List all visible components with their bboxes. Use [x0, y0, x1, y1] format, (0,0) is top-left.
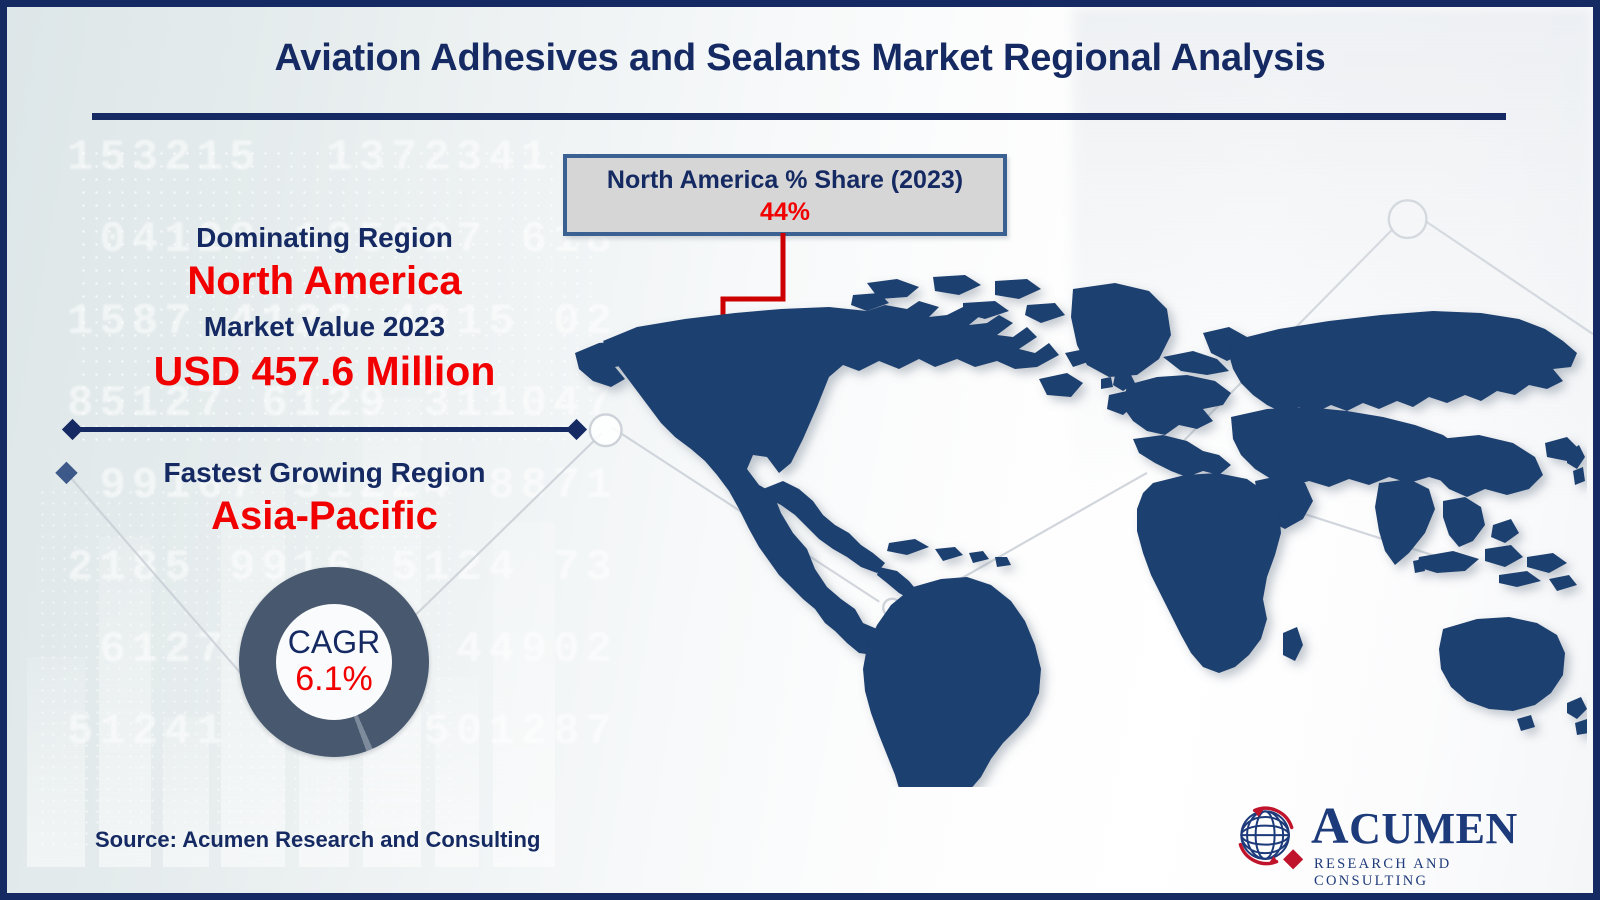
world-map-svg: [567, 257, 1587, 787]
callout-value: 44%: [567, 198, 1003, 227]
fastest-region-label: Fastest Growing Region: [62, 457, 587, 488]
logo-tagline: RESEARCH AND CONSULTING: [1314, 856, 1531, 890]
logo-name-initial: A: [1311, 798, 1349, 855]
source-attribution: Source: Acumen Research and Consulting: [95, 827, 540, 853]
left-stat-group-top: Dominating Region North America Market V…: [62, 222, 587, 394]
dominating-region-label: Dominating Region: [62, 222, 587, 253]
dominating-region-value: North America: [62, 259, 587, 304]
cagr-donut-chart: CAGR 6.1%: [239, 567, 429, 757]
cagr-label: CAGR: [288, 626, 380, 659]
world-map: [567, 257, 1587, 787]
acumen-logo: ACUMEN RESEARCH AND CONSULTING: [1229, 795, 1529, 877]
donut-center: CAGR 6.1%: [276, 604, 392, 720]
north-america-share-callout: North America % Share (2023) 44%: [563, 154, 1007, 236]
map-landmasses: [575, 275, 1587, 787]
cagr-value: 6.1%: [295, 661, 373, 698]
infographic-root: 153215 1372341 04128 135927 618 1587 412…: [0, 0, 1600, 900]
market-value-value: USD 457.6 Million: [62, 349, 587, 395]
left-stat-group-bottom: Fastest Growing Region Asia-Pacific: [62, 457, 587, 539]
fastest-region-value: Asia-Pacific: [62, 494, 587, 539]
logo-name: ACUMEN: [1311, 801, 1531, 853]
divider-line: [72, 427, 577, 432]
globe-icon: [1229, 799, 1305, 875]
logo-name-rest: CUMEN: [1349, 804, 1518, 853]
page-title: Aviation Adhesives and Sealants Market R…: [7, 37, 1593, 80]
diamond-icon: [1283, 849, 1303, 869]
title-divider: [92, 113, 1506, 120]
market-value-label: Market Value 2023: [62, 311, 587, 342]
logo-wordmark: ACUMEN RESEARCH AND CONSULTING: [1311, 801, 1531, 890]
callout-title: North America % Share (2023): [567, 166, 1003, 195]
left-panel-divider: [62, 419, 587, 441]
